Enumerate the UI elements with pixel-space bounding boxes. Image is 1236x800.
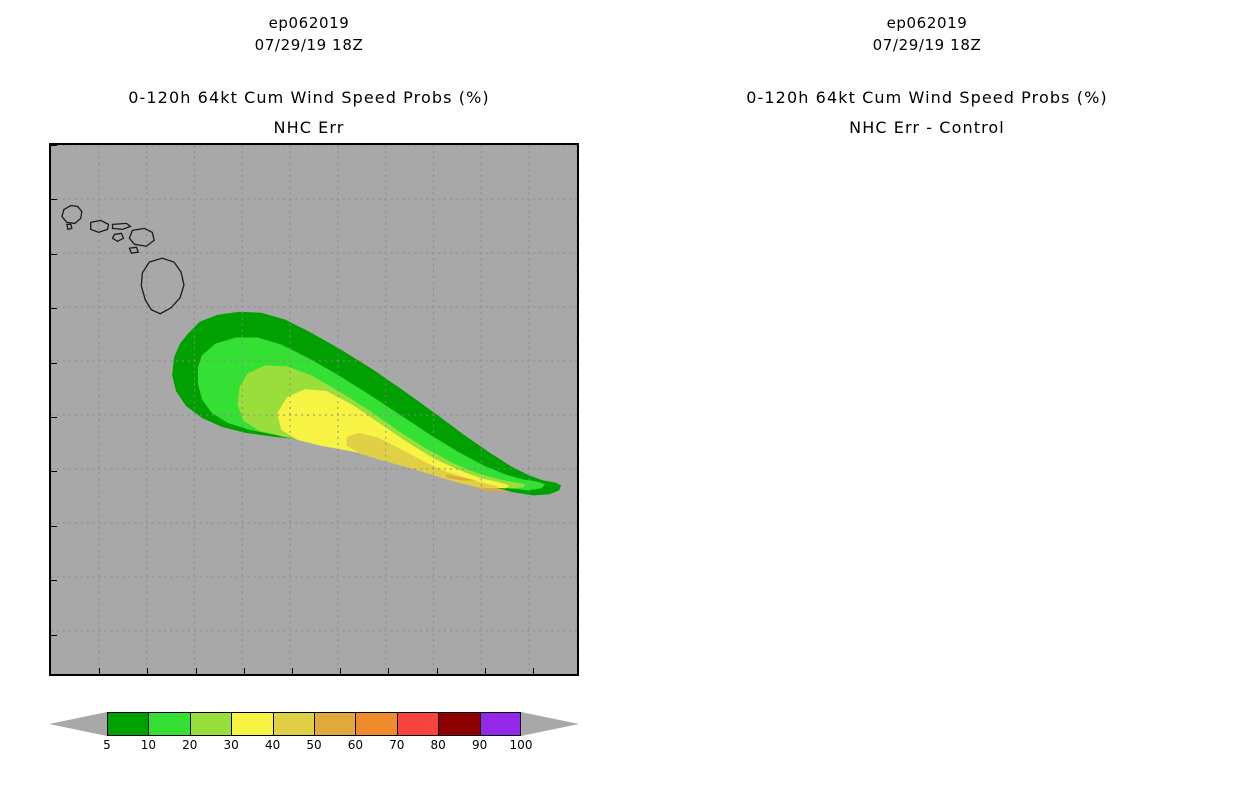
colorbar-cell xyxy=(314,712,355,736)
ytick-label: 8N xyxy=(49,574,51,587)
island-lanai xyxy=(113,233,124,241)
tickmark-y xyxy=(51,145,57,146)
tickmark-x xyxy=(196,668,197,674)
island-hawaii xyxy=(141,258,184,314)
colorbar-tick: 60 xyxy=(348,738,363,752)
colorbar-cell xyxy=(480,712,521,736)
ytick-label: 24N xyxy=(49,143,51,152)
ytick-label: 10N xyxy=(49,520,51,533)
tickmark-x xyxy=(147,668,148,674)
tickmark-x xyxy=(485,668,486,674)
island-kauai xyxy=(62,206,82,224)
ytick-label: 20N xyxy=(49,248,51,261)
right-storm-id: ep062019 xyxy=(618,14,1236,32)
island-oahu xyxy=(91,220,109,232)
colorbar-swatches xyxy=(49,712,579,736)
left-map-canvas xyxy=(51,145,577,674)
left-storm-id: ep062019 xyxy=(0,14,618,32)
island-niihau xyxy=(67,224,72,229)
colorbar-tick: 80 xyxy=(431,738,446,752)
tickmark-y xyxy=(51,417,57,418)
colorbar-cell xyxy=(355,712,396,736)
tickmark-y xyxy=(51,363,57,364)
colorbar-cell xyxy=(231,712,272,736)
tickmark-y xyxy=(51,199,57,200)
tickmark-x xyxy=(244,668,245,674)
colorbar-tick: 70 xyxy=(389,738,404,752)
colorbar-cell xyxy=(148,712,189,736)
tickmark-y xyxy=(51,526,57,527)
tickmark-y xyxy=(51,635,57,636)
right-subtitle: NHC Err - Control xyxy=(618,118,1236,137)
colorbar-cell xyxy=(190,712,231,736)
colorbar-cell xyxy=(273,712,314,736)
hawaiian-islands-left xyxy=(62,206,184,314)
colorbar-cell xyxy=(107,712,148,736)
colorbar-tick: 20 xyxy=(182,738,197,752)
colorbar-tick: 100 xyxy=(510,738,533,752)
colorbar-tick: 30 xyxy=(224,738,239,752)
tickmark-y xyxy=(51,471,57,472)
colorbar-tick: 50 xyxy=(306,738,321,752)
map-axes-left[interactable]: 24N 22N 20N 18N 16N 14N 12N 10N 8N 6N 15… xyxy=(49,143,579,676)
right-title: 0-120h 64kt Cum Wind Speed Probs (%) xyxy=(618,88,1236,107)
forecast-figure: ep062019 07/29/19 18Z 0-120h 64kt Cum Wi… xyxy=(0,0,1236,800)
panel-nhc-err: ep062019 07/29/19 18Z 0-120h 64kt Cum Wi… xyxy=(0,0,618,800)
tickmark-y xyxy=(51,580,57,581)
tickmark-x xyxy=(99,668,100,674)
colorbar-tick: 40 xyxy=(265,738,280,752)
tickmark-x xyxy=(533,668,534,674)
island-molokai xyxy=(113,223,131,229)
island-maui xyxy=(129,228,154,246)
tickmark-x xyxy=(292,668,293,674)
colorbar-cell xyxy=(397,712,438,736)
tickmark-y xyxy=(51,308,57,309)
left-subtitle: NHC Err xyxy=(0,118,618,137)
left-datetime: 07/29/19 18Z xyxy=(0,36,618,54)
right-datetime: 07/29/19 18Z xyxy=(618,36,1236,54)
tickmark-x xyxy=(388,668,389,674)
panel-nhc-err-minus-control: ep062019 07/29/19 18Z 0-120h 64kt Cum Wi… xyxy=(618,0,1236,800)
tickmark-y xyxy=(51,254,57,255)
colorbar-tick: 90 xyxy=(472,738,487,752)
ytick-label: 12N xyxy=(49,465,51,478)
left-title: 0-120h 64kt Cum Wind Speed Probs (%) xyxy=(0,88,618,107)
ytick-label: 18N xyxy=(49,302,51,315)
tickmark-x xyxy=(437,668,438,674)
colorbar-tick-labels: 5 10 20 30 40 50 60 70 80 90 100 xyxy=(49,738,579,756)
ytick-label: 6N xyxy=(49,629,51,642)
ytick-label: 14N xyxy=(49,411,51,424)
colorbar-tick: 10 xyxy=(141,738,156,752)
ytick-label: 16N xyxy=(49,357,51,370)
island-kahoolawe xyxy=(129,247,138,253)
colorbar-under-arrow xyxy=(49,712,107,736)
tickmark-x xyxy=(340,668,341,674)
colorbar-tick: 5 xyxy=(103,738,111,752)
colorbar-over-arrow xyxy=(521,712,579,736)
probability-colorbar[interactable]: 5 10 20 30 40 50 60 70 80 90 100 xyxy=(49,712,579,758)
ytick-label: 22N xyxy=(49,193,51,206)
colorbar-cell xyxy=(438,712,479,736)
